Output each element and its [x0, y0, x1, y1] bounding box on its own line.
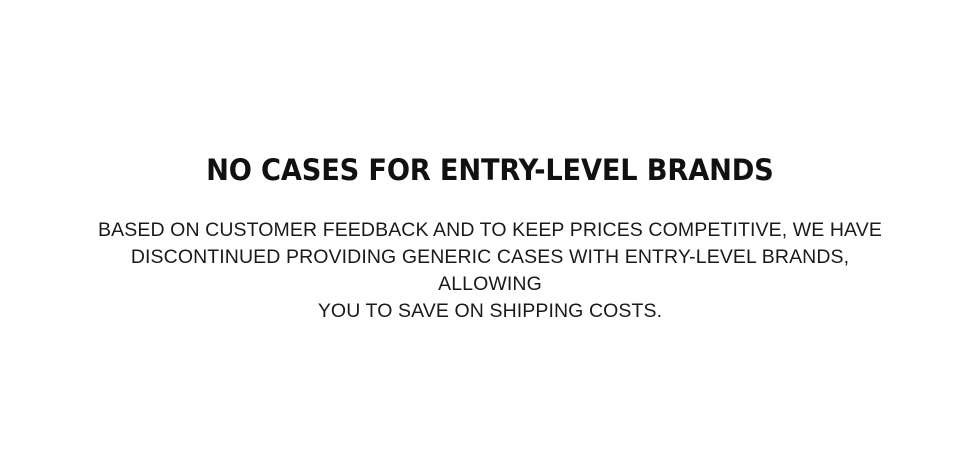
notice-section: NO CASES FOR ENTRY-LEVEL BRANDS BASED ON… — [0, 0, 980, 450]
notice-body-line-1: BASED ON CUSTOMER FEEDBACK AND TO KEEP P… — [90, 217, 890, 244]
notice-body-line-3: YOU TO SAVE ON SHIPPING COSTS. — [90, 298, 890, 325]
notice-body-line-2: DISCONTINUED PROVIDING GENERIC CASES WIT… — [90, 244, 890, 298]
page-title: NO CASES FOR ENTRY-LEVEL BRANDS — [206, 152, 774, 188]
notice-body-text: BASED ON CUSTOMER FEEDBACK AND TO KEEP P… — [90, 217, 890, 325]
